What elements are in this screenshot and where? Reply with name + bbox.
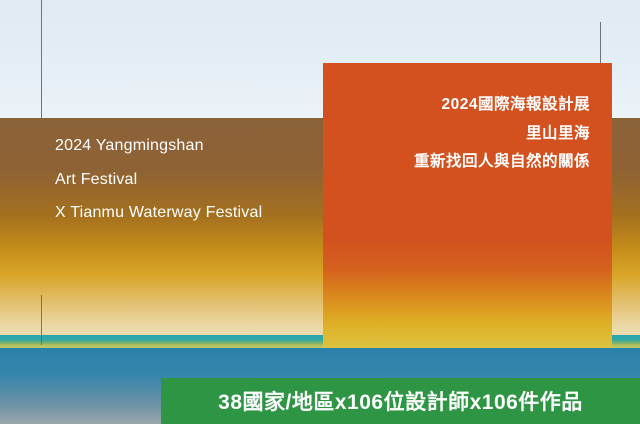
orange-panel-line-2: 里山里海 [341, 120, 590, 149]
orange-panel-text-block: 2024國際海報設計展 里山里海 重新找回人與自然的關係 [341, 91, 590, 177]
headline-left-line-3: X Tianmu Waterway Festival [55, 196, 262, 230]
vertical-rule-left-upper [41, 0, 42, 118]
poster-canvas: 2024 Yangmingshan Art Festival X Tianmu … [0, 0, 640, 424]
headline-left-line-2: Art Festival [55, 163, 262, 197]
headline-left-line-1: 2024 Yangmingshan [55, 129, 262, 163]
green-stats-bar: 38國家/地區x106位設計師x106件作品 [161, 378, 640, 424]
orange-panel-line-1: 2024國際海報設計展 [341, 91, 590, 120]
vertical-rule-left-lower [41, 295, 42, 345]
orange-title-panel: 2024國際海報設計展 里山里海 重新找回人與自然的關係 [323, 63, 612, 348]
headline-left-block: 2024 Yangmingshan Art Festival X Tianmu … [55, 129, 262, 230]
orange-panel-line-3: 重新找回人與自然的關係 [341, 148, 590, 177]
green-stats-bar-text: 38國家/地區x106位設計師x106件作品 [218, 386, 583, 416]
